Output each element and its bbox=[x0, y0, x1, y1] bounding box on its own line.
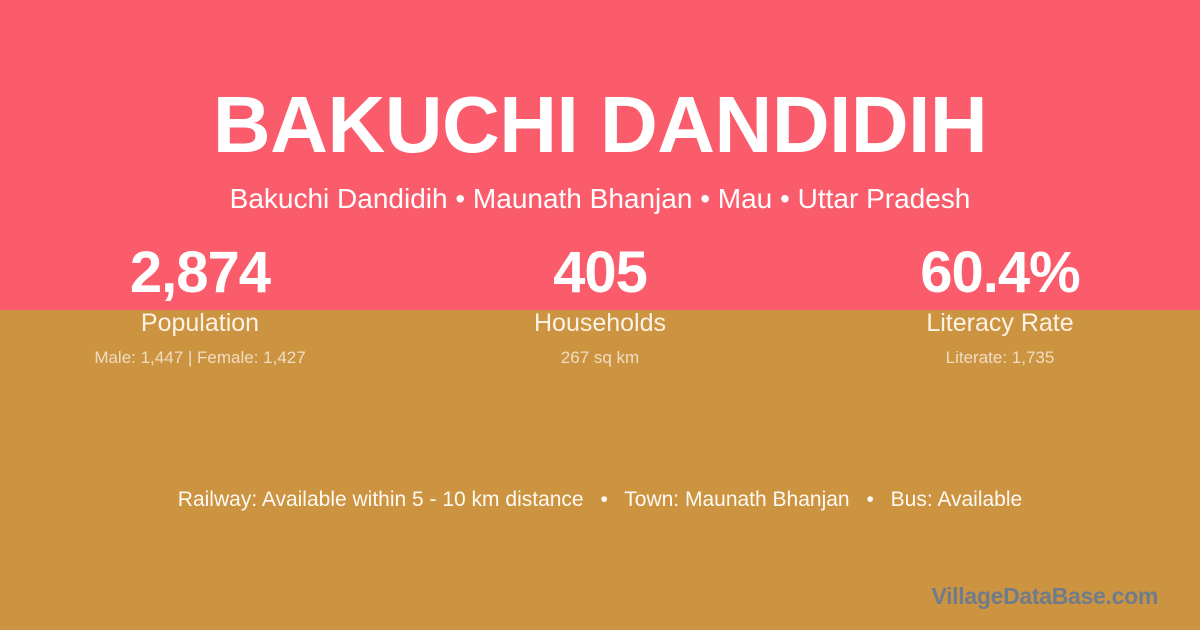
site-brand-logo: VillageDataBase.com bbox=[931, 582, 1158, 610]
amenity-bus: Bus: Available bbox=[891, 488, 1023, 511]
stat-label-literacy-rate: Literacy Rate bbox=[800, 308, 1200, 338]
stats-row: 2,874 Population Male: 1,447 | Female: 1… bbox=[0, 240, 1200, 368]
stat-detail-literacy-rate: Literate: 1,735 bbox=[800, 347, 1200, 368]
amenity-town: Town: Maunath Bhanjan bbox=[624, 488, 849, 511]
amenity-separator-bullet: • bbox=[589, 486, 618, 513]
stat-label-households: Households bbox=[400, 308, 800, 338]
amenity-separator-bullet: • bbox=[855, 486, 884, 513]
village-info-card: BAKUCHI DANDIDIH Bakuchi Dandidih • Maun… bbox=[0, 0, 1200, 630]
stat-detail-population: Male: 1,447 | Female: 1,427 bbox=[0, 347, 400, 368]
stat-literacy-rate: 60.4% Literacy Rate Literate: 1,735 bbox=[800, 240, 1200, 368]
stat-detail-households: 267 sq km bbox=[400, 347, 800, 368]
stat-value-population: 2,874 bbox=[0, 240, 400, 306]
amenity-railway: Railway: Available within 5 - 10 km dist… bbox=[178, 488, 584, 511]
stat-value-literacy-rate: 60.4% bbox=[800, 240, 1200, 306]
amenities-line: Railway: Available within 5 - 10 km dist… bbox=[0, 486, 1200, 513]
stat-households: 405 Households 267 sq km bbox=[400, 240, 800, 368]
page-title: BAKUCHI DANDIDIH bbox=[0, 82, 1200, 168]
stat-value-households: 405 bbox=[400, 240, 800, 306]
stat-label-population: Population bbox=[0, 308, 400, 338]
stat-population: 2,874 Population Male: 1,447 | Female: 1… bbox=[0, 240, 400, 368]
breadcrumb: Bakuchi Dandidih • Maunath Bhanjan • Mau… bbox=[0, 182, 1200, 216]
